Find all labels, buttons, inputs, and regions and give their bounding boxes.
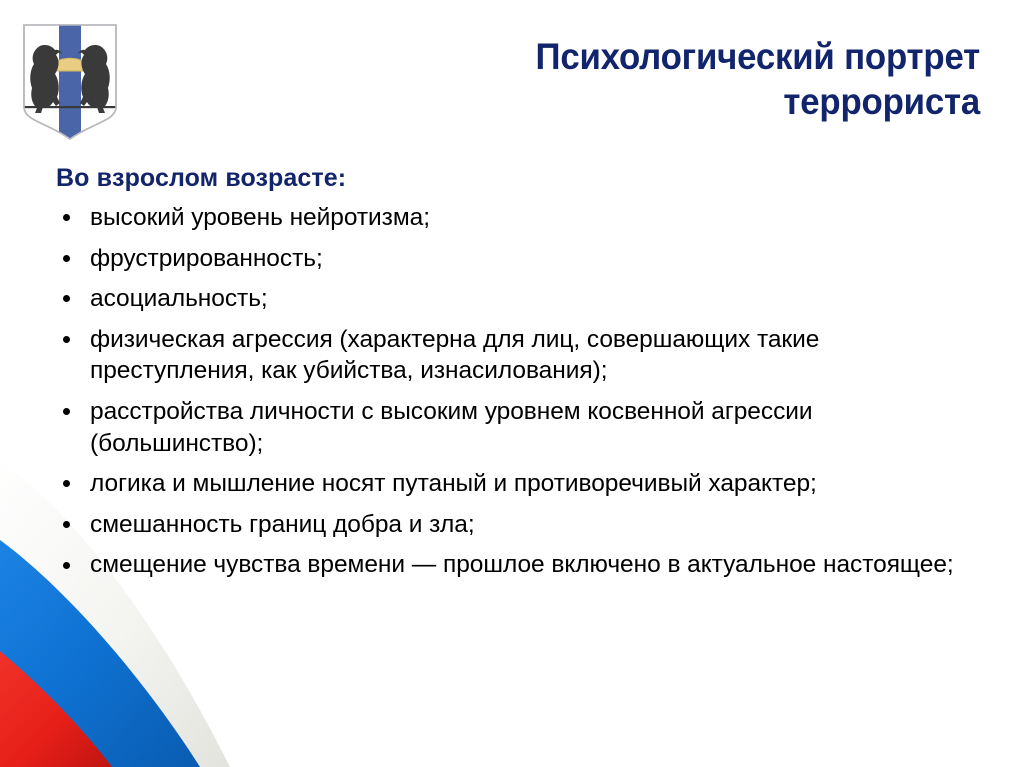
list-item-text: фрустрированность; — [90, 245, 323, 272]
bullet-dot-icon — [63, 480, 70, 487]
bullet-dot-icon — [63, 408, 70, 415]
list-item: асоциальность; — [56, 283, 966, 315]
list-item-text: расстройства личности с высоким уровнем … — [90, 398, 813, 457]
list-item: фрустрированность; — [56, 243, 966, 275]
list-item: физическая агрессия (характерна для лиц,… — [56, 324, 966, 387]
bullet-dot-icon — [63, 521, 70, 528]
novosibirsk-oblast-coat-of-arms-icon — [18, 18, 122, 144]
list-item-text: физическая агрессия (характерна для лиц,… — [90, 326, 819, 385]
bullet-dot-icon — [63, 255, 70, 262]
slide-canvas: Психологический портрет террориста Во вз… — [0, 0, 1024, 767]
list-item: расстройства личности с высоким уровнем … — [56, 396, 966, 459]
bullet-dot-icon — [63, 562, 70, 569]
list-item-text: смещение чувства времени — прошлое включ… — [90, 551, 954, 578]
bullet-dot-icon — [63, 336, 70, 343]
list-item: смешанность границ добра и зла; — [56, 509, 966, 541]
list-item-text: смешанность границ добра и зла; — [90, 511, 475, 538]
list-item-text: асоциальность; — [90, 285, 268, 312]
list-item-text: высокий уровень нейротизма; — [90, 204, 430, 231]
slide-title: Психологический портрет террориста — [378, 34, 980, 124]
slide-title-line-1: Психологический портрет — [378, 34, 980, 79]
bullet-dot-icon — [63, 295, 70, 302]
slide-title-line-2: террориста — [378, 79, 980, 124]
bullet-dot-icon — [63, 214, 70, 221]
list-item: смещение чувства времени — прошлое включ… — [56, 549, 966, 581]
list-item-text: логика и мышление носят путаный и против… — [90, 470, 817, 497]
list-item: логика и мышление носят путаный и против… — [56, 468, 966, 500]
slide-content: Во взрослом возрасте: высокий уровень не… — [56, 163, 966, 590]
bullet-list: высокий уровень нейротизма; фрустрирован… — [56, 202, 966, 581]
list-item: высокий уровень нейротизма; — [56, 202, 966, 234]
content-subheading: Во взрослом возрасте: — [56, 163, 966, 193]
